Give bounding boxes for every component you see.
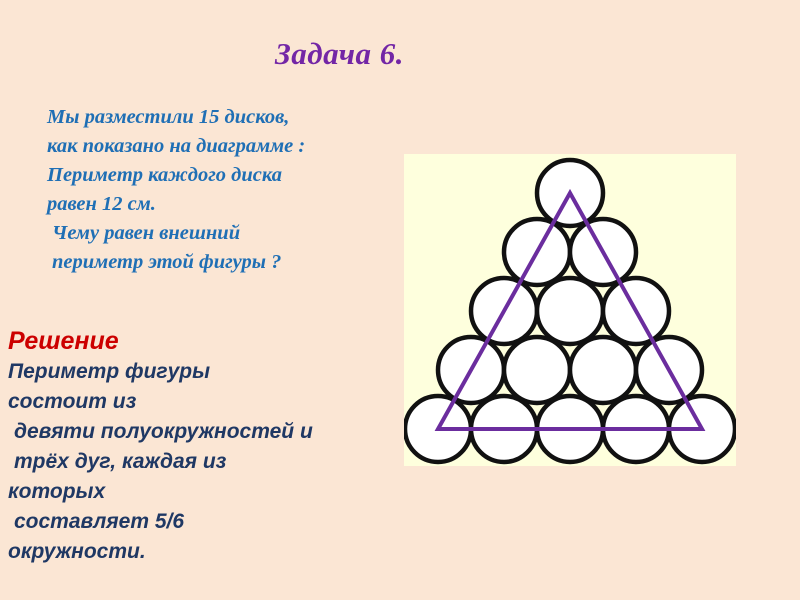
- solution-line-3: девяти полуокружностей и: [8, 417, 438, 447]
- disk-diagram-panel: [404, 154, 736, 466]
- disk-5: [537, 278, 603, 344]
- problem-line-5: Чему равен внешний: [47, 219, 407, 248]
- disk-9: [570, 337, 636, 403]
- disk-8: [504, 337, 570, 403]
- problem-line-2: как показано на диаграмме :: [47, 132, 407, 161]
- solution-block: Решение Периметр фигуры состоит из девят…: [8, 326, 438, 567]
- solution-line-2: состоит из: [8, 387, 438, 417]
- problem-statement: Мы разместили 15 дисков, как показано на…: [47, 103, 407, 277]
- solution-line-5: которых: [8, 477, 438, 507]
- problem-line-3: Перимеmр каждого диска: [47, 161, 407, 190]
- disk-triangle-diagram: [404, 154, 736, 466]
- disk-group: [405, 160, 735, 462]
- solution-line-4: трёх дуг, каждая из: [8, 447, 438, 477]
- problem-line-6: периметр этой фигуры ?: [47, 248, 407, 277]
- solution-text: Периметр фигуры состоит из девяти полуок…: [8, 357, 438, 567]
- solution-line-1: Периметр фигуры: [8, 357, 438, 387]
- problem-line-1: Мы разместили 15 дисков,: [47, 103, 407, 132]
- page-title: Задача 6.: [275, 36, 695, 72]
- solution-heading: Решение: [8, 326, 438, 356]
- slide-canvas: Задача 6. Мы разместили 15 дисков, как п…: [0, 0, 800, 600]
- solution-line-6: составляет 5/6: [8, 507, 438, 537]
- problem-line-4: равен 12 см.: [47, 190, 407, 219]
- solution-line-7: окружности.: [8, 537, 438, 567]
